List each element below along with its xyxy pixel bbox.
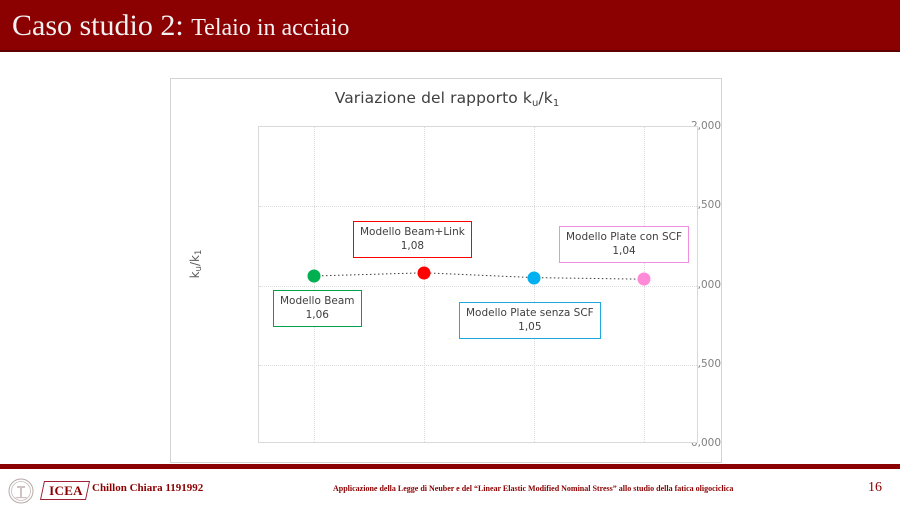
data-point-modello-plate-senza-scf[interactable]: [528, 271, 541, 284]
footer-author: Chillon Chiara 1191992: [92, 482, 203, 494]
page-title-main: Caso studio 2:: [12, 9, 184, 42]
chart-plot-area: Modello Beam 1,06 Modello Beam+Link 1,08…: [258, 126, 698, 443]
gridline-horizontal: [259, 286, 697, 287]
page-title-sub: Telaio in acciaio: [191, 15, 349, 41]
page-title: Caso studio 2: Telaio in acciaio: [12, 9, 349, 45]
callout-value-modello-beam: 1,06: [280, 308, 355, 322]
gridline-vertical: [314, 127, 315, 442]
y-axis-sub-1: 1: [194, 250, 204, 255]
callout-value-modello-plate-senza-scf: 1,05: [466, 320, 594, 334]
callout-label-modello-beam: Modello Beam: [280, 295, 355, 307]
callout-label-modello-plate-con-scf: Modello Plate con SCF: [566, 231, 682, 243]
data-point-modello-beam[interactable]: [308, 270, 321, 283]
chart-title-sub-u: u: [532, 98, 538, 109]
gridline-horizontal: [259, 206, 697, 207]
chart-title-mid: /k: [538, 89, 552, 107]
callout-modello-beam-link: Modello Beam+Link 1,08: [353, 221, 472, 258]
callout-modello-plate-con-scf: Modello Plate con SCF 1,04: [559, 226, 689, 263]
data-point-modello-plate-con-scf[interactable]: [638, 273, 651, 286]
callout-label-modello-plate-senza-scf: Modello Plate senza SCF: [466, 307, 594, 319]
y-axis-title: ku/k1: [188, 234, 202, 294]
data-point-modello-beam-link[interactable]: [418, 266, 431, 279]
callout-modello-plate-senza-scf: Modello Plate senza SCF 1,05: [459, 302, 601, 339]
gridline-horizontal: [259, 365, 697, 366]
footer-page-number: 16: [868, 480, 882, 496]
gridline-vertical: [534, 127, 535, 442]
chart-title-text: Variazione del rapporto k: [335, 89, 532, 107]
chart-container: Variazione del rapporto ku/k1 ku/k1 0,00…: [170, 78, 722, 463]
university-seal-icon: [8, 478, 34, 504]
y-axis-title-mid: /k: [188, 255, 202, 266]
callout-modello-beam: Modello Beam 1,06: [273, 290, 362, 327]
callout-value-modello-beam-link: 1,08: [360, 239, 465, 253]
slide-title-banner: Caso studio 2: Telaio in acciaio: [0, 0, 900, 52]
y-axis-sub-u: u: [194, 266, 204, 271]
footer-subject: Applicazione della Legge di Neuber e del…: [333, 484, 733, 493]
callout-label-modello-beam-link: Modello Beam+Link: [360, 226, 465, 238]
chart-title: Variazione del rapporto ku/k1: [171, 89, 723, 107]
icea-logo-text: ICEA: [44, 482, 88, 499]
y-axis-title-base: k: [188, 271, 202, 278]
gridline-vertical: [424, 127, 425, 442]
callout-value-modello-plate-con-scf: 1,04: [566, 244, 682, 258]
chart-title-sub-1: 1: [553, 98, 559, 109]
